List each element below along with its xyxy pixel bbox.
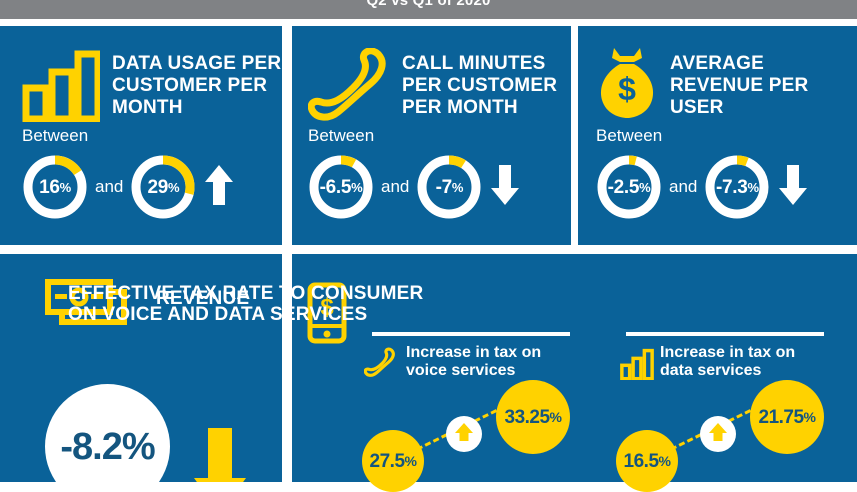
tax-voice-from-bubble: 27.5%: [362, 430, 424, 492]
between-label: Between: [22, 126, 88, 145]
data-usage-donuts: 16% and 29%: [22, 154, 234, 220]
donut-high-label: -7%: [416, 154, 482, 220]
between-label: Between: [596, 126, 662, 145]
card-call-minutes: CALL MINUTES PER CUSTOMER PER MONTH Betw…: [292, 26, 571, 245]
arrow-up-icon: [708, 421, 728, 448]
tax-voice-heading: Increase in tax on voice services: [406, 344, 541, 380]
arrow-up-icon: [204, 163, 234, 212]
arrow-down-icon: [192, 426, 248, 482]
page-title: Q2 vs Q1 of 2020: [0, 0, 857, 10]
tax-data-panel: Increase in tax on data services 16.5% 2…: [604, 332, 857, 482]
arrow-down-icon: [490, 163, 520, 212]
donut-high: 29%: [130, 154, 196, 220]
revenue-value-circle: -8.2%: [45, 384, 170, 482]
donut-high: -7%: [416, 154, 482, 220]
card-average-revenue-per-user: $ AVERAGE REVENUE PER USER Between -2.5%…: [578, 26, 857, 245]
phone-handset-icon: [308, 48, 394, 124]
tax-data-increase-arrow: [700, 416, 736, 452]
donut-low: -2.5%: [596, 154, 662, 220]
tax-data-to-bubble: 21.75%: [750, 380, 824, 454]
donut-low: -6.5%: [308, 154, 374, 220]
between-label: Between: [308, 126, 374, 145]
card-title: DATA USAGE PER CUSTOMER PER MONTH: [112, 53, 281, 119]
donut-high-label: -7.3%: [704, 154, 770, 220]
arrow-up-icon: [454, 421, 474, 448]
tax-card-title: EFFECTIVE TAX RATE TO CONSUMER ON VOICE …: [68, 283, 423, 325]
revenue-value: -8.2%: [60, 428, 154, 466]
tax-data-from-bubble: 16.5%: [616, 430, 678, 492]
card-data-usage: DATA USAGE PER CUSTOMER PER MONTH Betwee…: [0, 26, 282, 245]
donut-low: 16%: [22, 154, 88, 220]
tax-voice-to-bubble: 33.25%: [496, 380, 570, 454]
bar-chart-icon: [620, 348, 654, 380]
tax-voice-increase-arrow: [446, 416, 482, 452]
and-label: and: [95, 177, 123, 197]
call-minutes-donuts: -6.5% and -7%: [308, 154, 520, 220]
donut-low-label: -6.5%: [308, 154, 374, 220]
arrow-down-icon: [778, 163, 808, 212]
header-bar: Q2 vs Q1 of 2020: [0, 0, 857, 19]
money-bag-icon: $: [596, 44, 658, 120]
divider: [626, 332, 824, 336]
card-title: CALL MINUTES PER CUSTOMER PER MONTH: [402, 53, 557, 119]
donut-low-label: -2.5%: [596, 154, 662, 220]
call-minutes-header: CALL MINUTES PER CUSTOMER PER MONTH: [308, 48, 557, 124]
donut-low-label: 16%: [22, 154, 88, 220]
bar-chart-icon: [22, 48, 100, 122]
donut-high-label: 29%: [130, 154, 196, 220]
and-label: and: [381, 177, 409, 197]
and-label: and: [669, 177, 697, 197]
tax-data-heading: Increase in tax on data services: [660, 344, 795, 380]
phone-handset-icon: [364, 346, 398, 380]
tax-voice-panel: Increase in tax on voice services 27.5% …: [350, 332, 620, 482]
arpu-donuts: -2.5% and -7.3%: [596, 154, 808, 220]
divider: [372, 332, 570, 336]
card-title: AVERAGE REVENUE PER USER: [670, 53, 808, 119]
arpu-header: $ AVERAGE REVENUE PER USER: [596, 44, 808, 120]
donut-high: -7.3%: [704, 154, 770, 220]
data-usage-header: DATA USAGE PER CUSTOMER PER MONTH: [22, 48, 281, 122]
svg-text:$: $: [618, 71, 636, 107]
